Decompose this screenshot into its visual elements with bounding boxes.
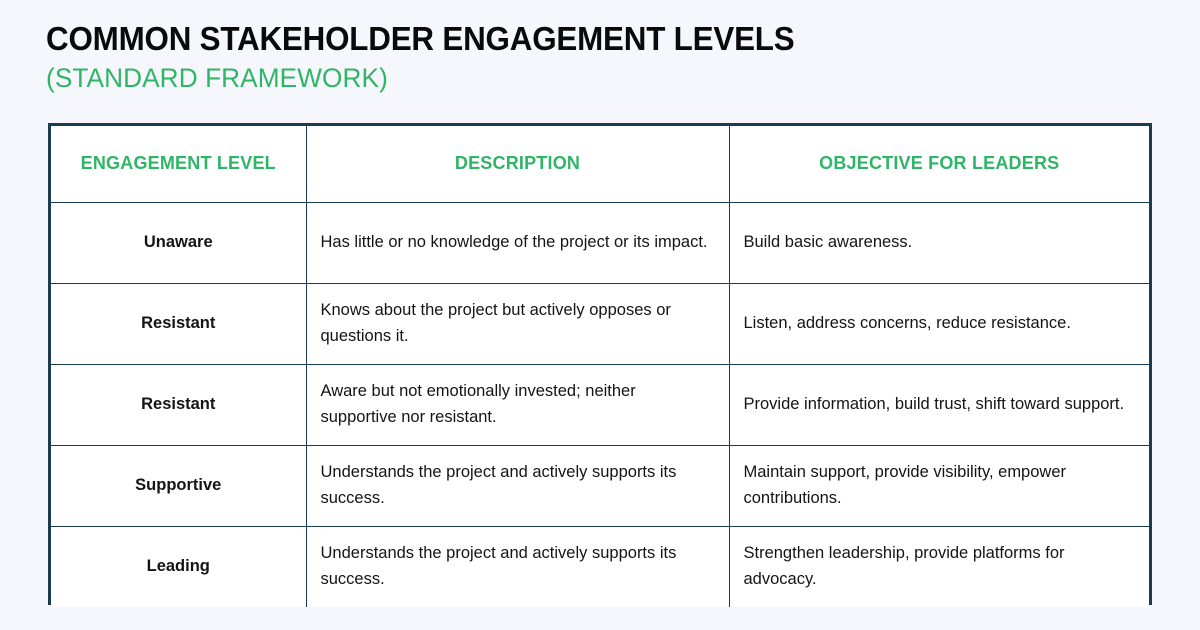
table-header-row: ENGAGEMENT LEVEL DESCRIPTION OBJECTIVE F… [51,126,1149,202]
cell-objective: Build basic awareness. [729,202,1149,283]
table-row: Resistant Knows about the project but ac… [51,283,1149,364]
column-header-engagement-level: ENGAGEMENT LEVEL [51,126,306,202]
cell-description: Has little or no knowledge of the projec… [306,202,729,283]
column-header-description: DESCRIPTION [306,126,729,202]
cell-engagement-level: Resistant [51,283,306,364]
cell-description-text: Aware but not emotionally invested; neit… [321,379,715,430]
table-row: Leading Understands the project and acti… [51,526,1149,607]
cell-objective-text: Strengthen leadership, provide platforms… [744,541,1136,592]
cell-description: Understands the project and actively sup… [306,445,729,526]
cell-objective: Listen, address concerns, reduce resista… [729,283,1149,364]
engagement-levels-table: ENGAGEMENT LEVEL DESCRIPTION OBJECTIVE F… [51,126,1149,607]
engagement-levels-table-container: ENGAGEMENT LEVEL DESCRIPTION OBJECTIVE F… [48,123,1152,605]
page-title: COMMON STAKEHOLDER ENGAGEMENT LEVELS [46,20,1101,58]
table-row: Resistant Aware but not emotionally inve… [51,364,1149,445]
cell-objective-text: Provide information, build trust, shift … [744,392,1136,418]
cell-engagement-level: Supportive [51,445,306,526]
cell-description-text: Understands the project and actively sup… [321,460,715,511]
cell-objective: Strengthen leadership, provide platforms… [729,526,1149,607]
cell-objective: Provide information, build trust, shift … [729,364,1149,445]
cell-description: Understands the project and actively sup… [306,526,729,607]
cell-description: Knows about the project but actively opp… [306,283,729,364]
infographic-page: COMMON STAKEHOLDER ENGAGEMENT LEVELS (ST… [0,0,1200,630]
cell-objective: Maintain support, provide visibility, em… [729,445,1149,526]
cell-engagement-level: Leading [51,526,306,607]
column-header-objective-for-leaders: OBJECTIVE FOR LEADERS [729,126,1149,202]
cell-description-text: Understands the project and actively sup… [321,541,715,592]
cell-objective-text: Build basic awareness. [744,230,1136,256]
table-header: ENGAGEMENT LEVEL DESCRIPTION OBJECTIVE F… [51,126,1149,202]
cell-objective-text: Listen, address concerns, reduce resista… [744,311,1136,337]
cell-description-text: Has little or no knowledge of the projec… [321,230,715,256]
table-row: Unaware Has little or no knowledge of th… [51,202,1149,283]
cell-engagement-level: Unaware [51,202,306,283]
page-subtitle: (STANDARD FRAMEWORK) [46,62,1123,94]
cell-objective-text: Maintain support, provide visibility, em… [744,460,1136,511]
title-block: COMMON STAKEHOLDER ENGAGEMENT LEVELS (ST… [46,20,1156,95]
table-body: Unaware Has little or no knowledge of th… [51,202,1149,607]
table-row: Supportive Understands the project and a… [51,445,1149,526]
cell-description: Aware but not emotionally invested; neit… [306,364,729,445]
cell-engagement-level: Resistant [51,364,306,445]
cell-description-text: Knows about the project but actively opp… [321,298,715,349]
